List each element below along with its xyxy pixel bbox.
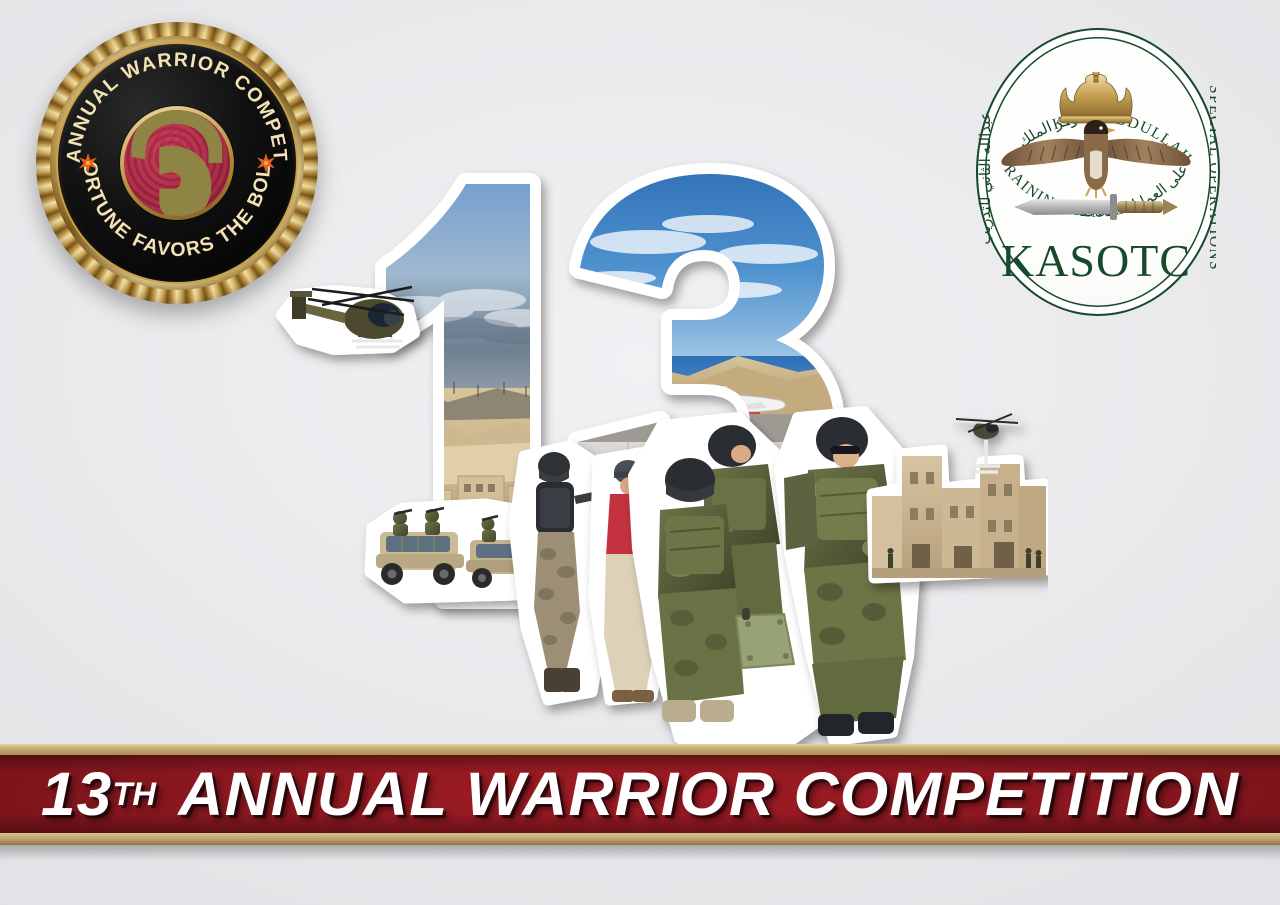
star-icon [78,153,98,173]
banner-ordinal-suffix: TH [112,776,156,813]
banner-title-text: 13THANNUAL WARRIOR COMPETITION [0,755,1280,833]
spartan-helmet-icon [124,110,230,216]
coin-crimson-field [124,110,230,216]
title-banner: 13THANNUAL WARRIOR COMPETITION [0,744,1280,848]
poster-canvas: 13 th ANNUAL WARRIOR COMPETITION FORTUNE… [0,0,1280,905]
number-13-photo-collage [268,150,1048,760]
coin-black-ring: 13 th ANNUAL WARRIOR COMPETITION FORTUNE… [58,44,296,282]
banner-ordinal-number: 13 [41,759,113,829]
banner-title-rest: ANNUAL WARRIOR COMPETITION [178,759,1239,829]
banner-gold-top-trim [0,744,1280,755]
helicopter-cutout [282,287,414,349]
collage-artwork [268,150,1048,760]
banner-drop-shadow [0,845,1280,861]
banner-gold-bottom-trim [0,833,1280,845]
compound-cutout [872,414,1046,578]
